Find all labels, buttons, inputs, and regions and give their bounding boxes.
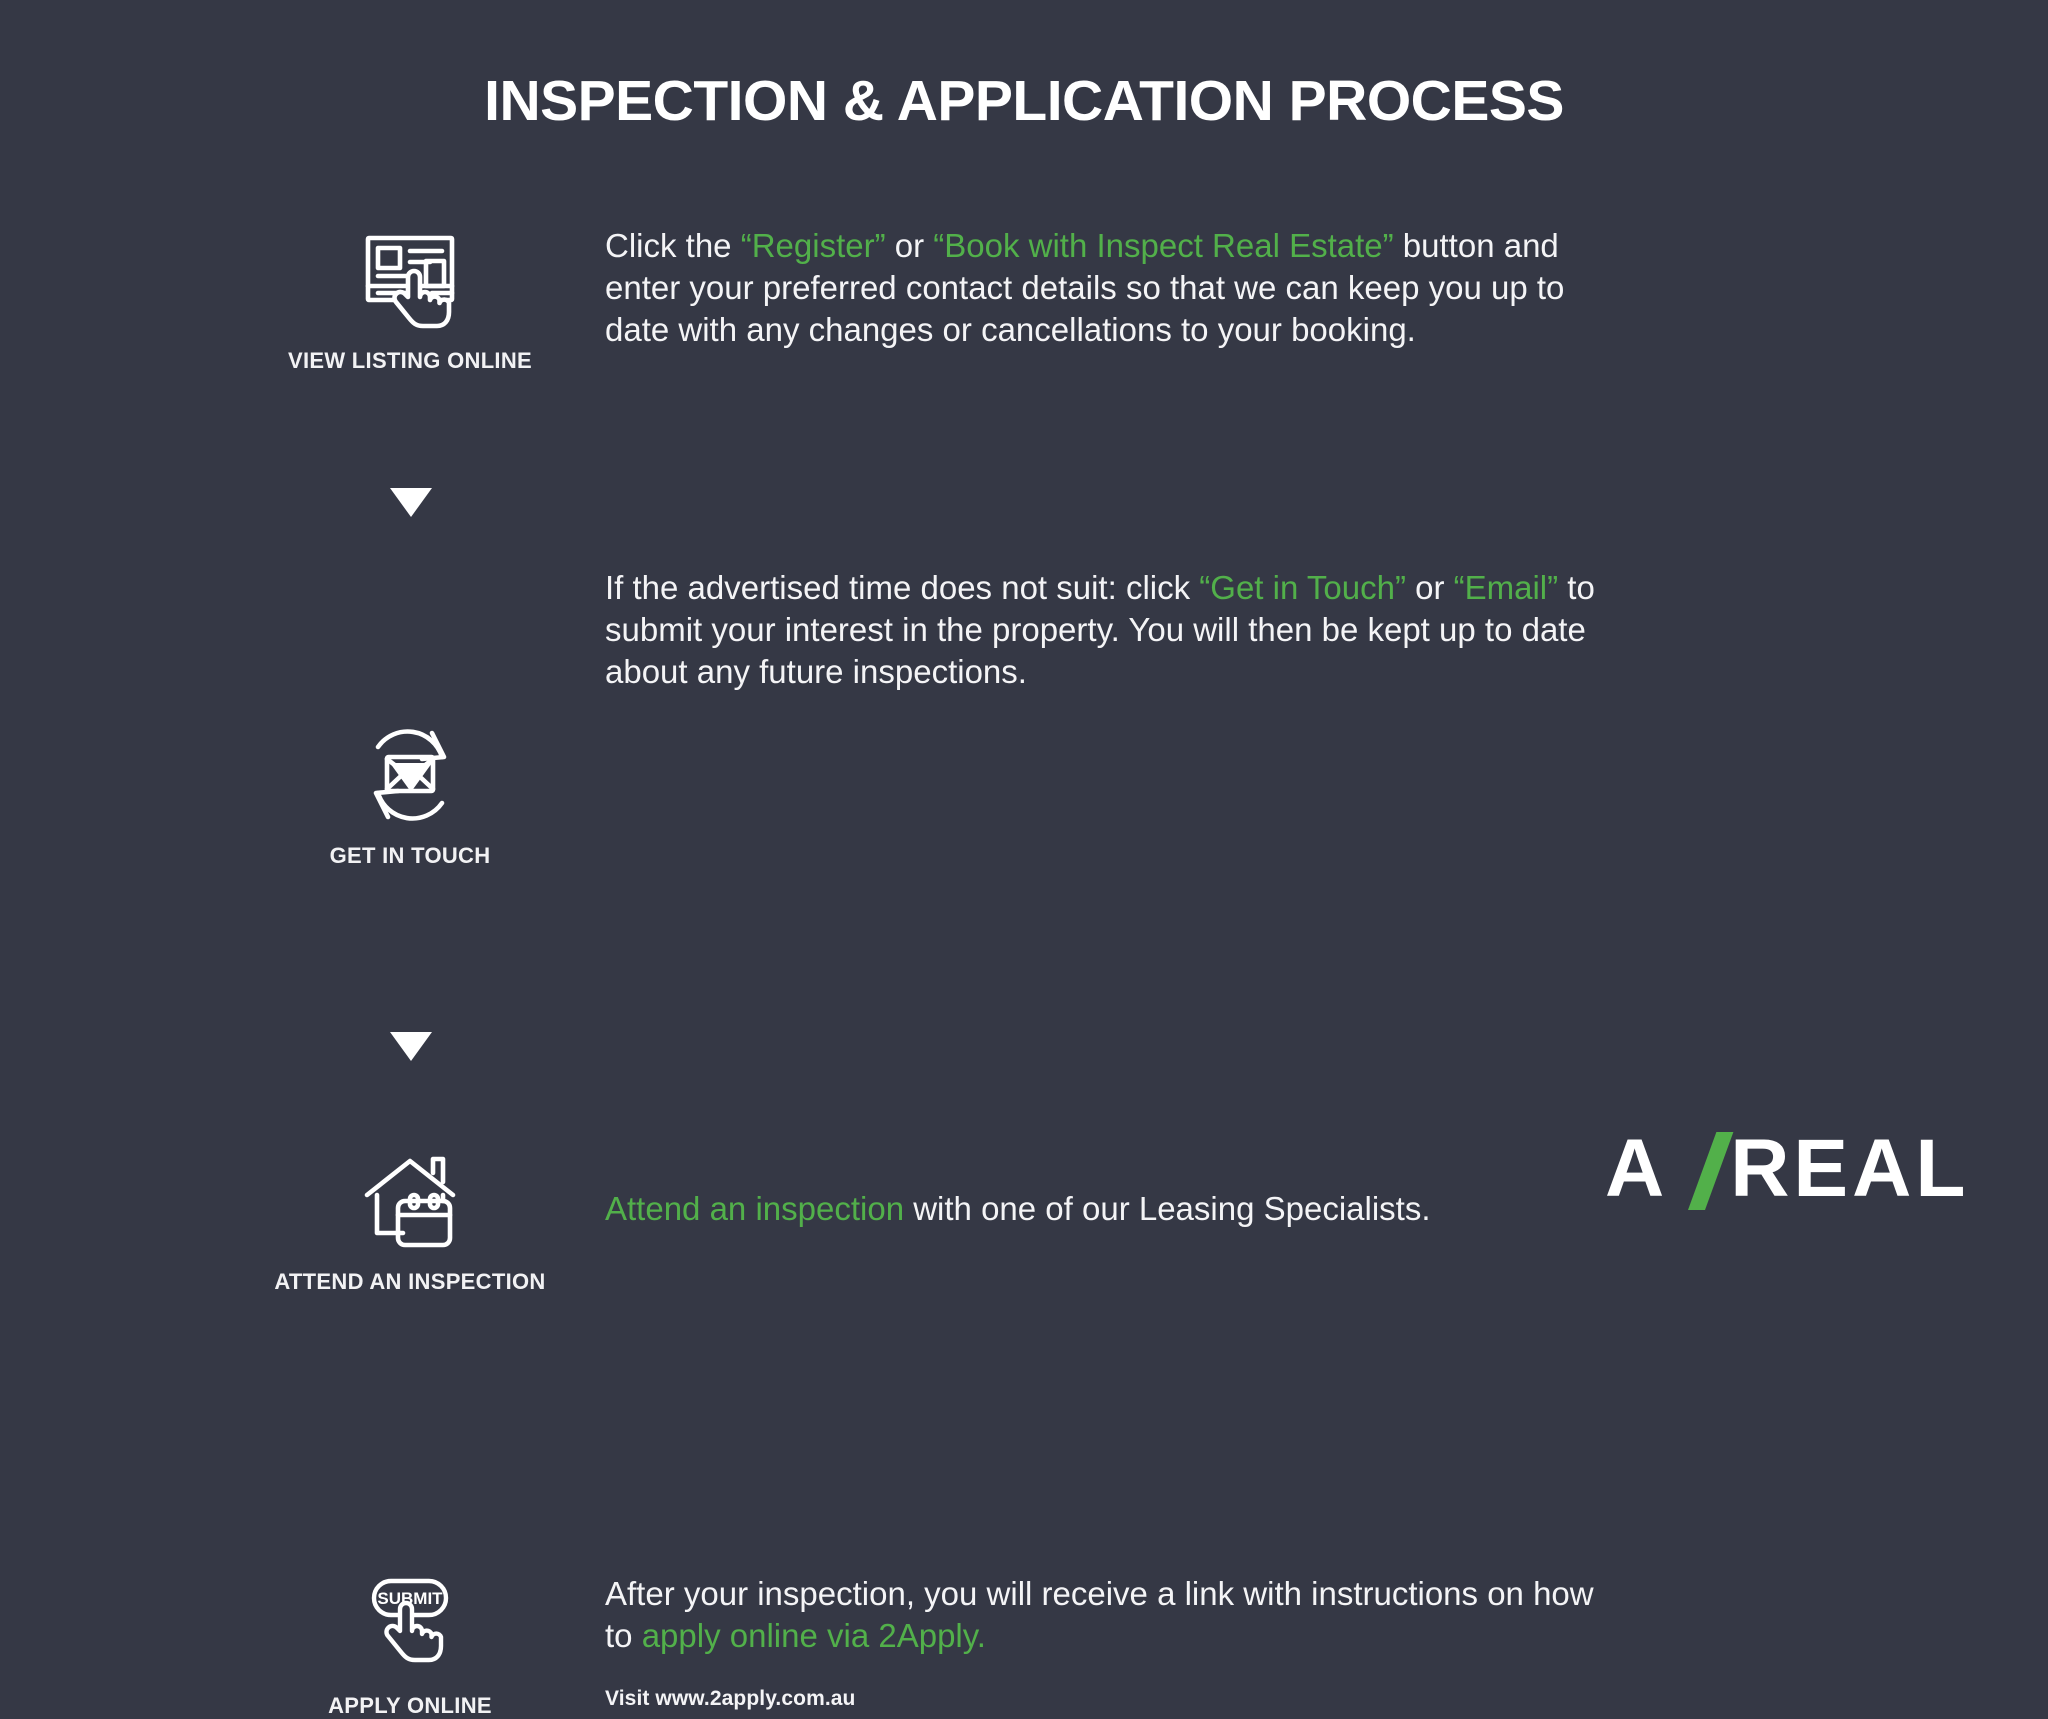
step-label-1: VIEW LISTING ONLINE xyxy=(255,348,565,374)
process-step-apply-online: SUBMIT APPLY ONLINE After your inspectio… xyxy=(0,760,2048,920)
step-text-accent: “Register” xyxy=(741,227,886,264)
listing-cursor-icon xyxy=(255,230,565,330)
step-icon-cell-1: VIEW LISTING ONLINE xyxy=(255,230,565,374)
step-label-4: APPLY ONLINE xyxy=(255,1693,565,1719)
brand-logo: A REAL xyxy=(1605,1128,1969,1210)
step-text-1: Click the “Register” or “Book with Inspe… xyxy=(605,225,1625,352)
process-step-view-listing-online: VIEW LISTING ONLINE Click the “Register”… xyxy=(0,280,2048,440)
logo-letter-a: A xyxy=(1605,1128,1668,1210)
step-text-segment: or xyxy=(886,227,934,264)
step-text-segment: with one of our Leasing Specialists. xyxy=(904,1190,1430,1227)
visit-url-note: Visit www.2apply.com.au xyxy=(605,1687,856,1711)
step-text-4: After your inspection, you will receive … xyxy=(605,1573,1625,1657)
house-calendar-icon xyxy=(255,1151,565,1251)
step-text-segment: Click the xyxy=(605,227,741,264)
step-icon-cell-4: SUBMIT APPLY ONLINE xyxy=(255,1575,565,1719)
process-step-attend-an-inspection: ATTEND AN INSPECTION Attend an inspectio… xyxy=(0,600,2048,760)
logo-slash-icon xyxy=(1674,1132,1728,1206)
process-steps-list: VIEW LISTING ONLINE Click the “Register”… xyxy=(0,280,2048,920)
step-text-accent: Attend an inspection xyxy=(605,1190,904,1227)
logo-word-real: REAL xyxy=(1730,1128,1969,1210)
process-step-get-in-touch: GET IN TOUCH If the advertised time does… xyxy=(0,440,2048,600)
step-label-3: ATTEND AN INSPECTION xyxy=(255,1269,565,1295)
page-title: INSPECTION & APPLICATION PROCESS xyxy=(0,70,2048,133)
step-icon-cell-3: ATTEND AN INSPECTION xyxy=(255,1151,565,1295)
step-text-accent: apply online via 2Apply. xyxy=(642,1617,986,1654)
down-triangle-icon xyxy=(390,1032,432,1061)
step-text-accent: “Book with Inspect Real Estate” xyxy=(933,227,1393,264)
step-text-3: Attend an inspection with one of our Lea… xyxy=(605,1188,1625,1230)
submit-button-cursor-icon: SUBMIT xyxy=(255,1575,565,1675)
